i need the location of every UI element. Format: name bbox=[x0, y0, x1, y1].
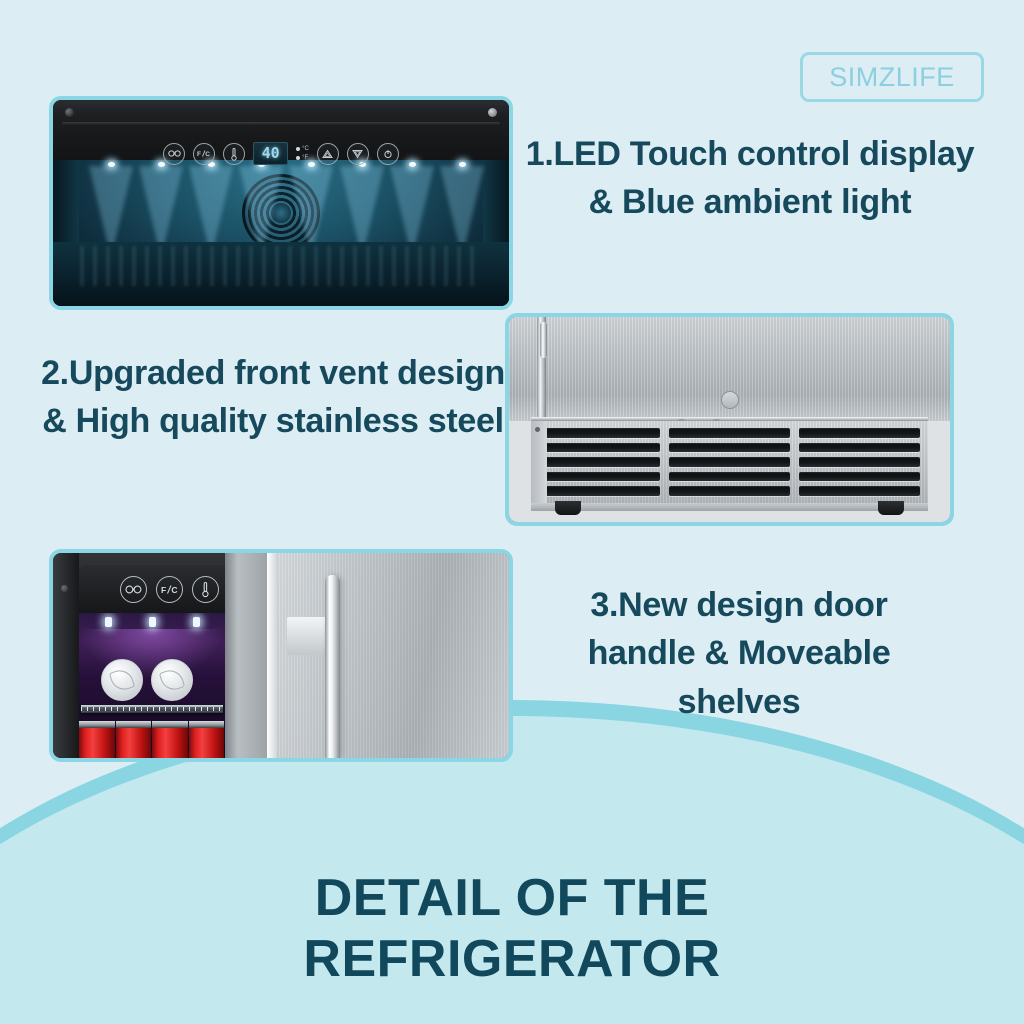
vent-slot bbox=[539, 472, 660, 482]
fridge-interior: Coca-Cola Coca-Cola Coca-Cola bbox=[79, 613, 225, 758]
fahrenheit-indicator: °F bbox=[296, 155, 309, 161]
footer-title: DETAIL OF THE REFRIGERATOR bbox=[0, 868, 1024, 991]
interior-led bbox=[105, 617, 112, 627]
thermometer-icon[interactable] bbox=[223, 143, 245, 165]
vent-slot bbox=[669, 457, 790, 467]
temperature-value: 40 bbox=[262, 146, 280, 161]
beverage-can: Coca-Cola bbox=[189, 721, 225, 758]
fahrenheit-celsius-icon[interactable]: FC bbox=[156, 576, 183, 603]
vent-column bbox=[799, 428, 920, 496]
can-top-view bbox=[101, 659, 143, 701]
door-handle-scene: FC Coca-Cola bbox=[53, 553, 509, 758]
door-highlight bbox=[267, 553, 277, 758]
door-handle-bar bbox=[325, 575, 340, 758]
photo-led-panel: FC 40 °C °F bbox=[49, 96, 513, 310]
stainless-door bbox=[267, 553, 509, 758]
screw-icon bbox=[61, 585, 68, 592]
handle-mount bbox=[287, 617, 329, 655]
interior-led bbox=[149, 617, 156, 627]
infographic-page: SIMZLIFE FC 40 bbox=[0, 0, 1024, 1024]
vent-column bbox=[669, 428, 790, 496]
vent-slot bbox=[799, 486, 920, 496]
door-handle-tip bbox=[540, 322, 547, 358]
celsius-indicator: °C bbox=[296, 146, 309, 152]
floor-reflection bbox=[80, 246, 481, 286]
svg-text:C: C bbox=[205, 151, 210, 158]
control-bar: FC bbox=[79, 565, 225, 613]
screw-icon bbox=[488, 108, 497, 117]
temperature-display: 40 bbox=[253, 142, 288, 165]
temp-up-icon[interactable] bbox=[317, 143, 339, 165]
vent-slot bbox=[799, 472, 920, 482]
feature-text-2: 2.Upgraded front vent design & High qual… bbox=[38, 349, 508, 446]
svg-text:C: C bbox=[171, 585, 177, 595]
feature-text-3: 3.New design door handle & Moveable shel… bbox=[534, 581, 944, 726]
vent-slot bbox=[799, 428, 920, 438]
light-toggle-icon[interactable] bbox=[120, 576, 147, 603]
vent-slot bbox=[539, 428, 660, 438]
svg-text:F: F bbox=[161, 585, 166, 595]
vent-slot bbox=[669, 486, 790, 496]
beverage-can: Coca-Cola bbox=[79, 721, 115, 758]
beverage-cans-row: Coca-Cola Coca-Cola Coca-Cola bbox=[79, 721, 225, 758]
vent-slot bbox=[539, 443, 660, 453]
moveable-shelf bbox=[81, 705, 223, 713]
unit-indicators: °C °F bbox=[296, 146, 309, 161]
vent-column bbox=[539, 428, 660, 496]
vent-slot bbox=[669, 428, 790, 438]
interior-led bbox=[193, 617, 200, 627]
vent-slot bbox=[669, 443, 790, 453]
power-icon[interactable] bbox=[377, 143, 399, 165]
vent-slot bbox=[799, 457, 920, 467]
vent-slot bbox=[799, 443, 920, 453]
vent-slot bbox=[539, 457, 660, 467]
interior-floor bbox=[53, 242, 509, 306]
vent-slot bbox=[539, 486, 660, 496]
temp-down-icon[interactable] bbox=[347, 143, 369, 165]
svg-text:F: F bbox=[197, 151, 201, 158]
screw-icon bbox=[65, 108, 74, 117]
touch-control-row: FC 40 °C °F bbox=[53, 142, 509, 165]
footer-title-line2: REFRIGERATOR bbox=[0, 929, 1024, 990]
beverage-can: Coca-Cola bbox=[116, 721, 152, 758]
photo-door-handle: FC Coca-Cola bbox=[49, 549, 513, 762]
brand-logo: SIMZLIFE bbox=[800, 52, 984, 102]
fahrenheit-celsius-icon[interactable]: FC bbox=[193, 143, 215, 165]
cabinet-lip bbox=[62, 122, 500, 126]
front-vent-scene bbox=[509, 317, 950, 522]
cabinet-side bbox=[53, 553, 79, 758]
bracket-screw-icon bbox=[535, 427, 540, 432]
footer-title-line1: DETAIL OF THE bbox=[0, 868, 1024, 929]
photo-front-vent bbox=[505, 313, 954, 526]
lock-icon bbox=[721, 391, 739, 409]
vent-bracket bbox=[531, 421, 547, 503]
leveling-foot bbox=[878, 501, 904, 515]
vent-slot bbox=[669, 472, 790, 482]
door-gap bbox=[225, 553, 267, 758]
vent-grille-panel bbox=[531, 421, 928, 503]
beverage-can: Coca-Cola bbox=[152, 721, 188, 758]
leveling-foot bbox=[555, 501, 581, 515]
cabinet-base bbox=[531, 503, 928, 511]
thermometer-icon[interactable] bbox=[192, 576, 219, 603]
light-toggle-icon[interactable] bbox=[163, 143, 185, 165]
can-top-view bbox=[151, 659, 193, 701]
feature-text-1: 1.LED Touch control display & Blue ambie… bbox=[524, 130, 976, 227]
brand-logo-text: SIMZLIFE bbox=[829, 62, 955, 93]
led-panel-scene: FC 40 °C °F bbox=[53, 100, 509, 306]
